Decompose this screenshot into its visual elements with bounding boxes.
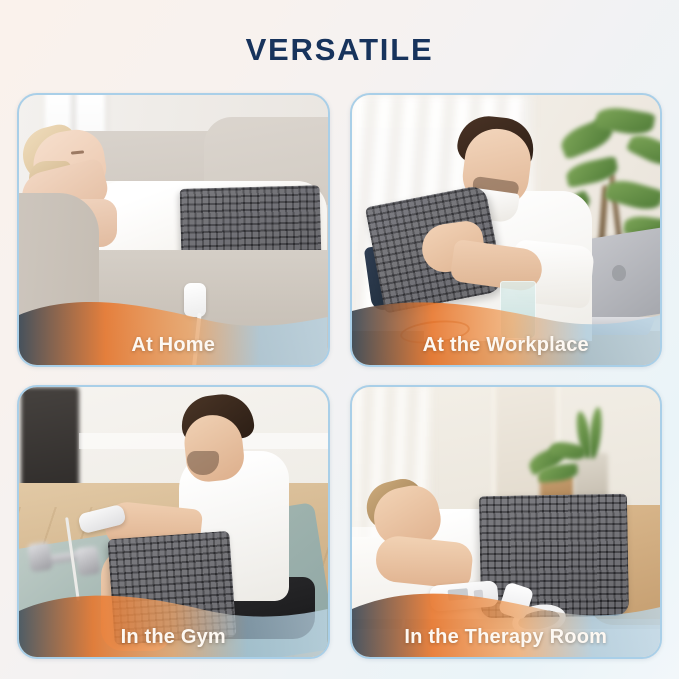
panel-label-at-home: At Home [19, 334, 328, 357]
panel-label-in-the-gym: In the Gym [19, 626, 328, 649]
panel-label-at-the-workplace: At the Workplace [352, 334, 661, 357]
panel-at-the-workplace[interactable]: At the Workplace [350, 93, 663, 367]
panel-grid: At Home [17, 93, 662, 659]
page-title: VERSATILE [0, 30, 679, 70]
panel-label-in-the-therapy-room: In the Therapy Room [352, 626, 661, 649]
apple-logo-icon [612, 265, 626, 281]
panel-in-the-gym[interactable]: In the Gym [17, 385, 330, 659]
panel-at-home[interactable]: At Home [17, 93, 330, 367]
panel-in-the-therapy-room[interactable]: In the Therapy Room [350, 385, 663, 659]
